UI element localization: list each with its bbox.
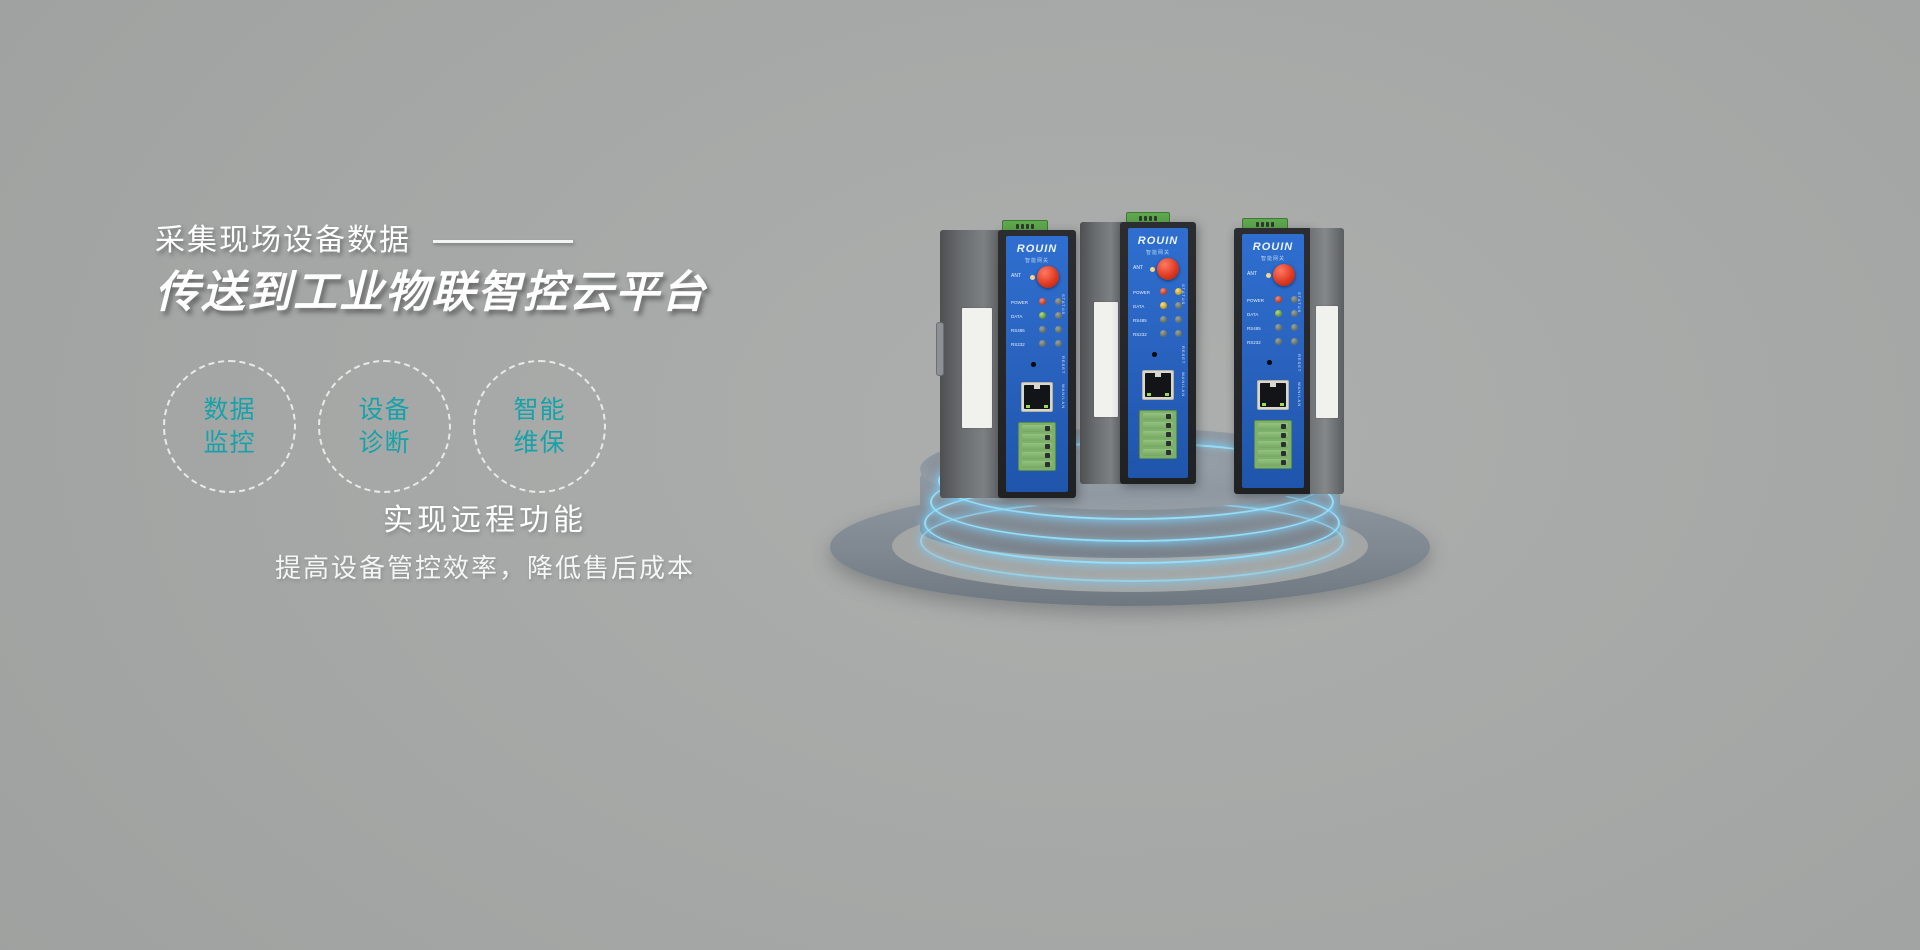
- terminal-pin: [1026, 224, 1029, 229]
- headline-text: 传送到工业物联智控云平台: [155, 268, 855, 319]
- led-row-data: DATA: [1133, 302, 1185, 311]
- device-front-panel: ROUIN 智能网关 ANT POWER DATA: [1234, 228, 1312, 494]
- reset-side-label: RESET: [1061, 356, 1066, 374]
- led-label: POWER: [1011, 300, 1028, 305]
- terminal-screw: [1166, 414, 1171, 419]
- terminal-slot: [1143, 413, 1173, 420]
- device-side-housing: [940, 230, 1002, 498]
- terminal-pin: [1271, 222, 1274, 227]
- brand-subtitle: 智能网关: [1006, 257, 1068, 264]
- port-side-label: WAN/LAN: [1181, 372, 1186, 397]
- status-led: [1160, 330, 1167, 337]
- terminal-slot: [1143, 440, 1173, 447]
- circle-label-line2: 维保: [513, 427, 565, 460]
- led-label: RS485: [1247, 326, 1261, 331]
- led-label: DATA: [1011, 314, 1022, 319]
- led-row-data: DATA: [1247, 310, 1301, 319]
- led-row-rs232: RS232: [1247, 338, 1301, 347]
- circle-label-line1: 数据: [203, 394, 255, 427]
- antenna-label: ANT: [1247, 271, 1257, 277]
- rj45-ethernet-port[interactable]: [1257, 380, 1289, 410]
- led-label: RS232: [1133, 332, 1147, 337]
- terminal-screw: [1281, 424, 1286, 429]
- status-led: [1175, 316, 1182, 323]
- status-led: [1291, 338, 1298, 345]
- terminal-block[interactable]: [1018, 422, 1056, 471]
- terminal-slot: [1022, 452, 1052, 459]
- terminal-slot: [1258, 459, 1288, 466]
- terminal-screw: [1045, 426, 1050, 431]
- terminal-pin: [1021, 224, 1024, 229]
- led-label: POWER: [1133, 290, 1150, 295]
- led-label: POWER: [1247, 298, 1264, 303]
- rj45-cavity: [1145, 373, 1171, 397]
- rj45-cavity: [1024, 385, 1050, 409]
- terminal-screw: [1281, 442, 1286, 447]
- status-led: [1039, 298, 1046, 305]
- status-led: [1055, 340, 1062, 347]
- brand-logo: ROUIN: [1128, 235, 1188, 247]
- antenna-connector-cap[interactable]: [1157, 258, 1179, 280]
- terminal-block[interactable]: [1139, 410, 1177, 459]
- led-row-power: POWER: [1011, 298, 1065, 307]
- led-row-power: POWER: [1247, 296, 1301, 305]
- left-text-block: 采集现场设备数据 传送到工业物联智控云平台: [155, 226, 855, 319]
- eyebrow-text: 采集现场设备数据: [155, 226, 411, 256]
- terminal-screw: [1166, 432, 1171, 437]
- led-row-power: POWER: [1133, 288, 1185, 297]
- status-led: [1275, 324, 1282, 331]
- rj45-tab: [1270, 381, 1276, 387]
- rj45-ethernet-port[interactable]: [1142, 370, 1174, 400]
- terminal-slot: [1258, 450, 1288, 457]
- terminal-screw: [1166, 441, 1171, 446]
- terminal-pin: [1144, 216, 1147, 221]
- circle-label-line2: 诊断: [358, 427, 410, 460]
- terminal-slot: [1143, 449, 1173, 456]
- port-side-label: WAN/LAN: [1297, 382, 1302, 407]
- status-led: [1039, 340, 1046, 347]
- status-side-label: STATUS: [1061, 294, 1066, 315]
- status-led: [1291, 324, 1298, 331]
- gateway-device-center[interactable]: ROUIN 智能网关 ANT POWER DATA: [1080, 222, 1210, 490]
- device-side-housing: [1080, 222, 1124, 484]
- terminal-screw: [1166, 423, 1171, 428]
- rj45-link-led: [1262, 403, 1266, 406]
- feature-circle-smart-maintenance[interactable]: 智能 维保: [473, 360, 606, 493]
- terminal-slot: [1258, 423, 1288, 430]
- circle-label-line1: 智能: [513, 394, 565, 427]
- terminal-slot: [1022, 425, 1052, 432]
- brand-subtitle: 智能网关: [1242, 255, 1304, 262]
- rj45-ethernet-port[interactable]: [1021, 382, 1053, 412]
- feature-circle-data-monitoring[interactable]: 数据 监控: [163, 360, 296, 493]
- spec-sticker: [1316, 306, 1338, 418]
- reset-side-label: RESET: [1181, 346, 1186, 364]
- spec-sticker: [1094, 302, 1118, 417]
- feature-circles: 数据 监控 设备 诊断 智能 维保: [163, 360, 606, 493]
- terminal-screw: [1166, 450, 1171, 455]
- status-led: [1039, 312, 1046, 319]
- rj45-link-led: [1026, 405, 1030, 408]
- terminal-screw: [1281, 451, 1286, 456]
- banner-stage: 采集现场设备数据 传送到工业物联智控云平台 数据 监控 设备 诊断 智能 维保 …: [0, 0, 1920, 950]
- led-row-rs232: RS232: [1011, 340, 1065, 349]
- terminal-screw: [1281, 433, 1286, 438]
- status-led: [1055, 326, 1062, 333]
- terminal-slot: [1143, 431, 1173, 438]
- led-row-rs485: RS485: [1011, 326, 1065, 335]
- circle-label-line1: 设备: [358, 394, 410, 427]
- device-faceplate: ROUIN 智能网关 ANT POWER DATA: [1006, 236, 1068, 492]
- device-front-panel: ROUIN 智能网关 ANT POWER DATA: [1120, 222, 1196, 484]
- din-rail-clip: [936, 322, 944, 376]
- terminal-screw: [1045, 435, 1050, 440]
- feature-circle-device-diagnosis[interactable]: 设备 诊断: [318, 360, 451, 493]
- terminal-slot: [1022, 434, 1052, 441]
- terminal-pin: [1154, 216, 1157, 221]
- terminal-pin: [1016, 224, 1019, 229]
- rj45-act-led: [1280, 403, 1284, 406]
- status-led: [1175, 330, 1182, 337]
- rj45-act-led: [1165, 393, 1169, 396]
- port-side-label: WAN/LAN: [1061, 384, 1066, 409]
- antenna-connector-cap[interactable]: [1037, 266, 1059, 288]
- reset-button[interactable]: [1031, 362, 1036, 367]
- rj45-act-led: [1044, 405, 1048, 408]
- terminal-screw: [1045, 444, 1050, 449]
- antenna-pin: [1266, 273, 1271, 278]
- led-label: RS485: [1011, 328, 1025, 333]
- status-led: [1160, 288, 1167, 295]
- product-scene: ROUIN 智能网关 ANT POWER DATA: [800, 200, 1500, 650]
- terminal-screw: [1281, 460, 1286, 465]
- terminal-block[interactable]: [1254, 420, 1292, 469]
- eyebrow-row: 采集现场设备数据: [155, 226, 855, 256]
- antenna-connector-cap[interactable]: [1273, 264, 1295, 286]
- device-front-panel: ROUIN 智能网关 ANT POWER DATA: [998, 230, 1076, 498]
- status-led: [1039, 326, 1046, 333]
- terminal-slot: [1258, 441, 1288, 448]
- terminal-pin: [1261, 222, 1264, 227]
- reset-button[interactable]: [1152, 352, 1157, 357]
- status-led: [1275, 310, 1282, 317]
- antenna-pin: [1150, 267, 1155, 272]
- status-led: [1275, 338, 1282, 345]
- led-label: DATA: [1133, 304, 1144, 309]
- status-side-label: STATUS: [1297, 292, 1302, 313]
- status-led: [1275, 296, 1282, 303]
- reset-button[interactable]: [1267, 360, 1272, 365]
- device-faceplate: ROUIN 智能网关 ANT POWER DATA: [1242, 234, 1304, 488]
- eyebrow-rule: [433, 240, 573, 243]
- circle-label-line2: 监控: [203, 427, 255, 460]
- brand-logo: ROUIN: [1006, 243, 1068, 255]
- rj45-link-led: [1147, 393, 1151, 396]
- brand-logo: ROUIN: [1242, 241, 1304, 253]
- led-label: DATA: [1247, 312, 1258, 317]
- terminal-screw: [1045, 462, 1050, 467]
- antenna-pin: [1030, 275, 1035, 280]
- led-row-rs485: RS485: [1247, 324, 1301, 333]
- terminal-slot: [1258, 432, 1288, 439]
- brand-subtitle: 智能网关: [1128, 249, 1188, 256]
- led-label: RS232: [1247, 340, 1261, 345]
- terminal-pin: [1139, 216, 1142, 221]
- led-row-rs232: RS232: [1133, 330, 1185, 339]
- terminal-pin: [1266, 222, 1269, 227]
- terminal-slot: [1143, 422, 1173, 429]
- rj45-cavity: [1260, 383, 1286, 407]
- terminal-pin: [1149, 216, 1152, 221]
- device-faceplate: ROUIN 智能网关 ANT POWER DATA: [1128, 228, 1188, 478]
- gateway-device-right[interactable]: ROUIN 智能网关 ANT POWER DATA: [1198, 228, 1338, 498]
- status-led: [1160, 302, 1167, 309]
- led-label: RS485: [1133, 318, 1147, 323]
- terminal-pin: [1256, 222, 1259, 227]
- led-row-rs485: RS485: [1133, 316, 1185, 325]
- led-label: RS232: [1011, 342, 1025, 347]
- rj45-tab: [1034, 383, 1040, 389]
- antenna-label: ANT: [1133, 265, 1143, 271]
- device-side-housing: [1310, 228, 1344, 494]
- terminal-slot: [1022, 443, 1052, 450]
- status-led: [1160, 316, 1167, 323]
- sub-description: 提高设备管控效率，降低售后成本: [155, 548, 815, 585]
- antenna-label: ANT: [1011, 273, 1021, 279]
- status-side-label: STATUS: [1181, 284, 1186, 305]
- led-row-data: DATA: [1011, 312, 1065, 321]
- rj45-tab: [1155, 371, 1161, 377]
- terminal-screw: [1045, 453, 1050, 458]
- terminal-slot: [1022, 461, 1052, 468]
- reset-side-label: RESET: [1297, 354, 1302, 372]
- gateway-device-left[interactable]: ROUIN 智能网关 ANT POWER DATA: [940, 230, 1080, 502]
- sub-headline: 实现远程功能: [155, 495, 815, 539]
- spec-sticker: [962, 308, 992, 428]
- terminal-pin: [1031, 224, 1034, 229]
